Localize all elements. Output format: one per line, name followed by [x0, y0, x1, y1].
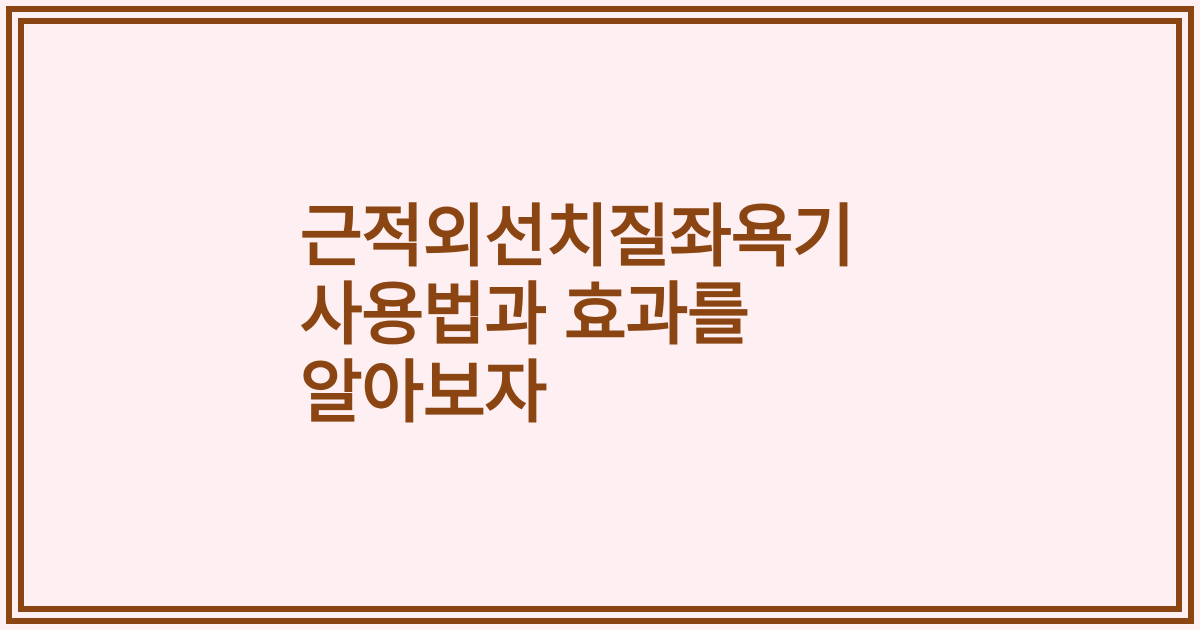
title-line-3: 알아보자: [300, 354, 854, 432]
content-plate: 근적외선치질좌욕기 사용법과 효과를 알아보자: [24, 24, 1176, 606]
thumbnail-canvas: 근적외선치질좌욕기 사용법과 효과를 알아보자: [0, 0, 1200, 630]
page-title: 근적외선치질좌욕기 사용법과 효과를 알아보자: [300, 198, 854, 432]
title-line-2: 사용법과 효과를: [300, 276, 854, 354]
title-line-1: 근적외선치질좌욕기: [300, 198, 854, 276]
